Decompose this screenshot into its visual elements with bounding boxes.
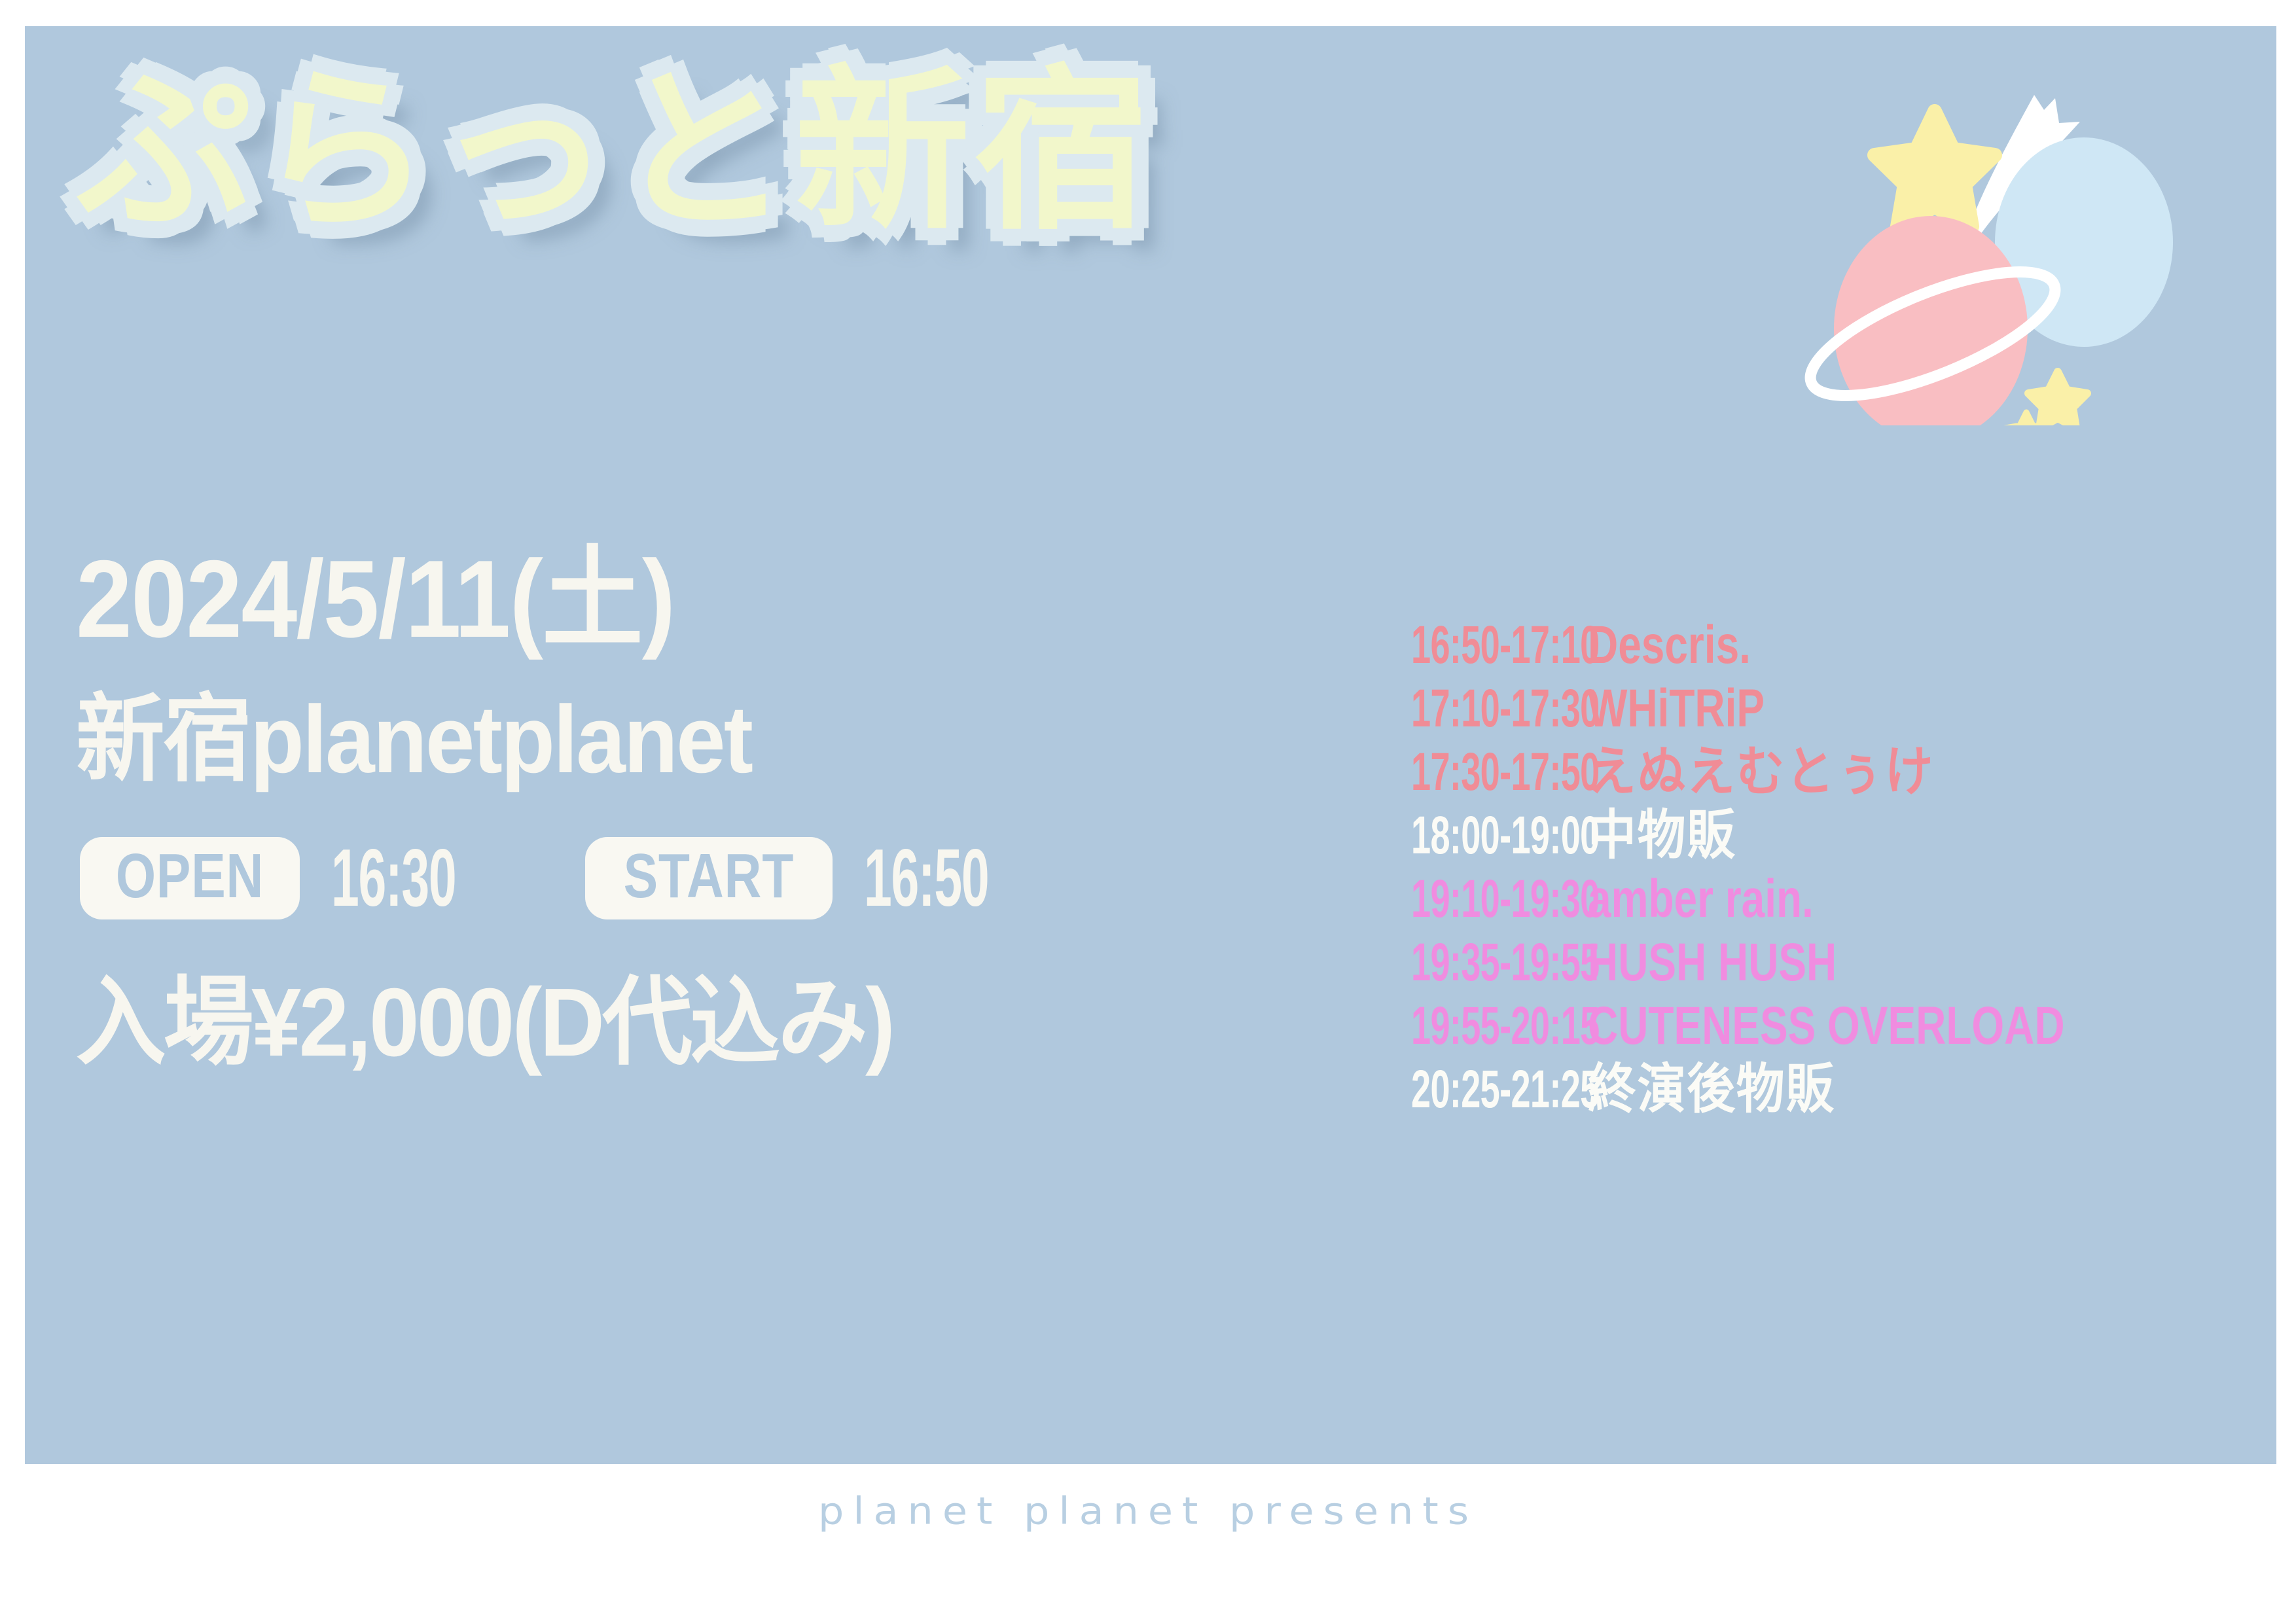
timetable-row: 19:35-19:55 HUSH HUSH [1411, 936, 2262, 999]
timetable-act: CUTENESS OVERLOAD [1588, 999, 2065, 1053]
open-label: OPEN [116, 844, 264, 910]
timetable-time: 19:35-19:55 [1411, 936, 1597, 990]
timetable-time: 19:10-19:30 [1411, 872, 1597, 926]
timetable-row: 17:10-17:30 WHiTRiP [1411, 682, 2262, 745]
timetable-time: 17:10-17:30 [1411, 682, 1597, 736]
start-label: START [624, 844, 795, 910]
timetable-act: 終演後物販 [1588, 1063, 1835, 1116]
timetable-time: 20:25-21:25 [1411, 1063, 1597, 1116]
event-info-column: 2024/5/11(土) 新宿planetplanet OPEN 16:30 S… [76, 543, 1359, 1071]
timetable-time: 17:30-17:50 [1411, 745, 1597, 799]
timetable-row: 20:25-21:25 終演後物販 [1411, 1063, 2262, 1126]
event-title-block: ぷらっと新宿 [77, 64, 1648, 287]
timetable-row: 17:30-17:50 えぬえむとぅけ [1411, 745, 2262, 808]
start-badge: START [585, 837, 833, 920]
ticket-price: 入場¥2,000(D代込み) [76, 974, 1269, 1071]
timetable-row: 18:00-19:00 中物販 [1411, 809, 2262, 872]
timetable-act: WHiTRiP [1588, 682, 1765, 736]
poster-panel: ぷらっと新宿 [25, 26, 2276, 1464]
timetable-time: 18:00-19:00 [1411, 809, 1597, 863]
timetable: 16:50-17:10 Descris. 17:10-17:30 WHiTRiP… [1411, 618, 2262, 1126]
timetable-act: Descris. [1588, 618, 1751, 672]
timetable-act: 中物販 [1588, 809, 1736, 863]
open-badge: OPEN [80, 837, 300, 920]
timetable-act: HUSH HUSH [1588, 936, 1837, 990]
door-times-row: OPEN 16:30 START 16:50 [80, 837, 1359, 920]
event-date: 2024/5/11(土) [76, 543, 1256, 655]
open-time: 16:30 [331, 838, 465, 919]
timetable-row: 19:55-20:15 CUTENESS OVERLOAD [1411, 999, 2262, 1062]
planet-artwork [1772, 33, 2231, 425]
footer: planet planet presents [0, 1487, 2296, 1535]
timetable-row: 19:10-19:30 amber rain. [1411, 872, 2262, 935]
star-icon-medium [2028, 372, 2087, 425]
event-title: ぷらっと新宿 [77, 64, 1648, 240]
start-time: 16:50 [864, 838, 998, 919]
event-venue: 新宿planetplanet [76, 689, 1269, 789]
timetable-time: 16:50-17:10 [1411, 618, 1597, 672]
timetable-time: 19:55-20:15 [1411, 999, 1597, 1053]
timetable-row: 16:50-17:10 Descris. [1411, 618, 2262, 681]
presents-credit: planet planet presents [818, 1489, 1478, 1533]
timetable-act: えぬえむとぅけ [1588, 745, 1934, 799]
timetable-act: amber rain. [1588, 872, 1814, 926]
